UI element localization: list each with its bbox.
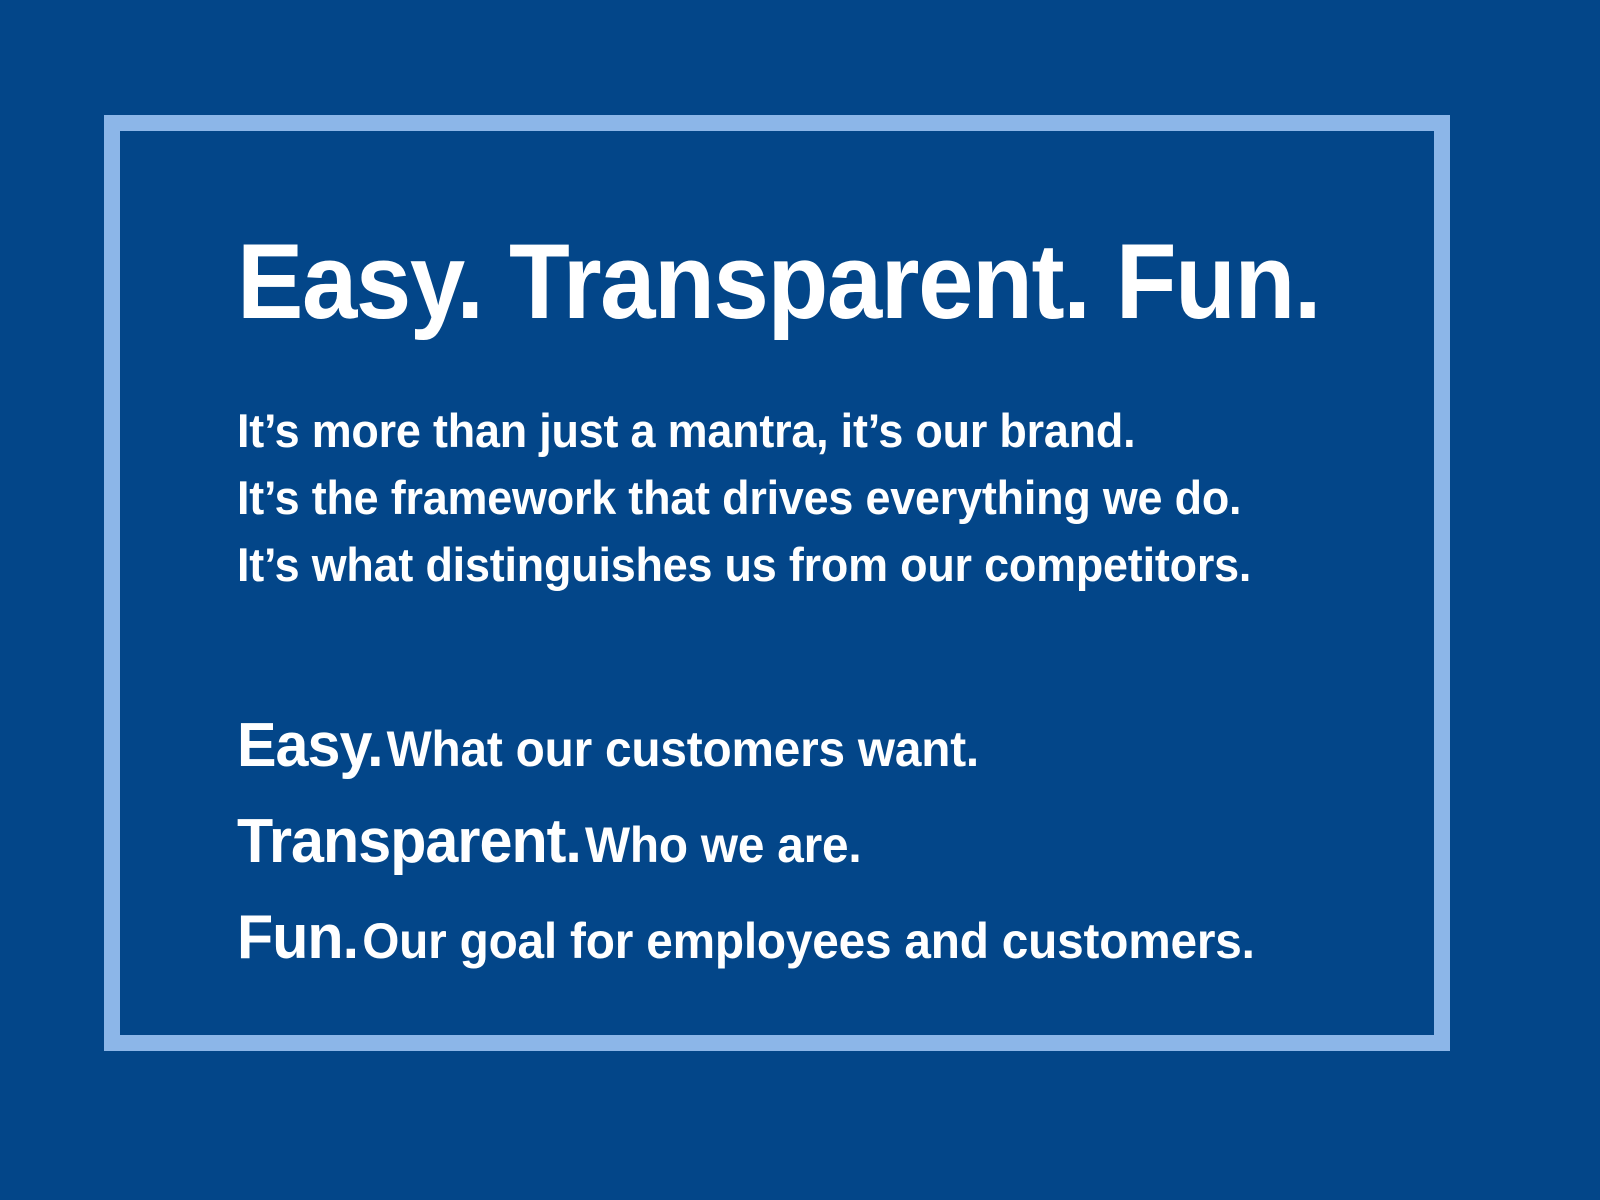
intro-line-2: It’s the framework that drives everythin… <box>237 464 1316 531</box>
slide-content: Easy. Transparent. Fun. It’s more than j… <box>237 228 1367 994</box>
intro-line-3: It’s what distinguishes us from our comp… <box>237 531 1316 598</box>
definition-description-transparent: Who we are. <box>585 817 862 873</box>
brand-mantra-slide: Easy. Transparent. Fun. It’s more than j… <box>0 0 1600 1200</box>
definition-term-fun: Fun. <box>237 903 358 972</box>
definition-list: Easy. What our customers want. Transpare… <box>237 706 1316 994</box>
definition-term-transparent: Transparent. <box>237 807 581 876</box>
definition-term-easy: Easy. <box>237 711 383 780</box>
intro-line-1: It’s more than just a mantra, it’s our b… <box>237 397 1316 464</box>
list-item: Transparent. Who we are. <box>237 802 1316 898</box>
list-item: Fun. Our goal for employees and customer… <box>237 898 1316 994</box>
list-item: Easy. What our customers want. <box>237 706 1316 802</box>
page-title: Easy. Transparent. Fun. <box>237 228 1288 335</box>
definition-description-easy: What our customers want. <box>387 721 979 777</box>
definition-description-fun: Our goal for employees and customers. <box>362 913 1254 969</box>
intro-paragraph: It’s more than just a mantra, it’s our b… <box>237 397 1316 598</box>
